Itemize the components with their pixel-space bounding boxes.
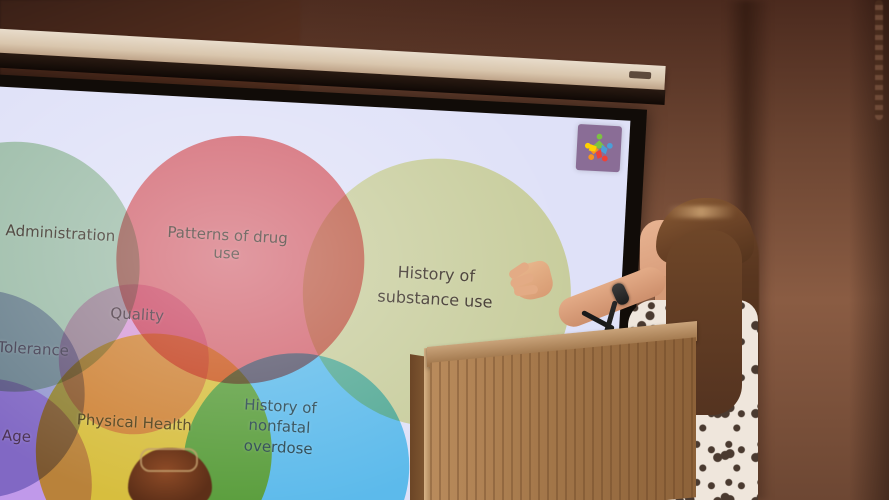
hanging-chain	[875, 0, 883, 120]
label-history-of-nonfatal-overdose: History of nonfatal overdose	[218, 393, 341, 460]
podium-front-panel	[430, 337, 696, 500]
circle-of-people-icon	[580, 129, 618, 167]
eyeglasses-on-head	[140, 448, 198, 472]
casing-end-cap	[629, 71, 651, 79]
brick-wall-right-shade	[849, 0, 889, 500]
label-patterns-of-drug-use: Patterns of drug use	[156, 223, 298, 266]
label-age: Age	[0, 426, 53, 448]
organization-logo	[576, 124, 622, 172]
label-history-of-substance-use: History of substance use	[352, 258, 519, 316]
screenshot-stage: Administration Patterns of drug use Hist…	[0, 0, 889, 500]
presenter-hair-highlight	[666, 206, 736, 218]
